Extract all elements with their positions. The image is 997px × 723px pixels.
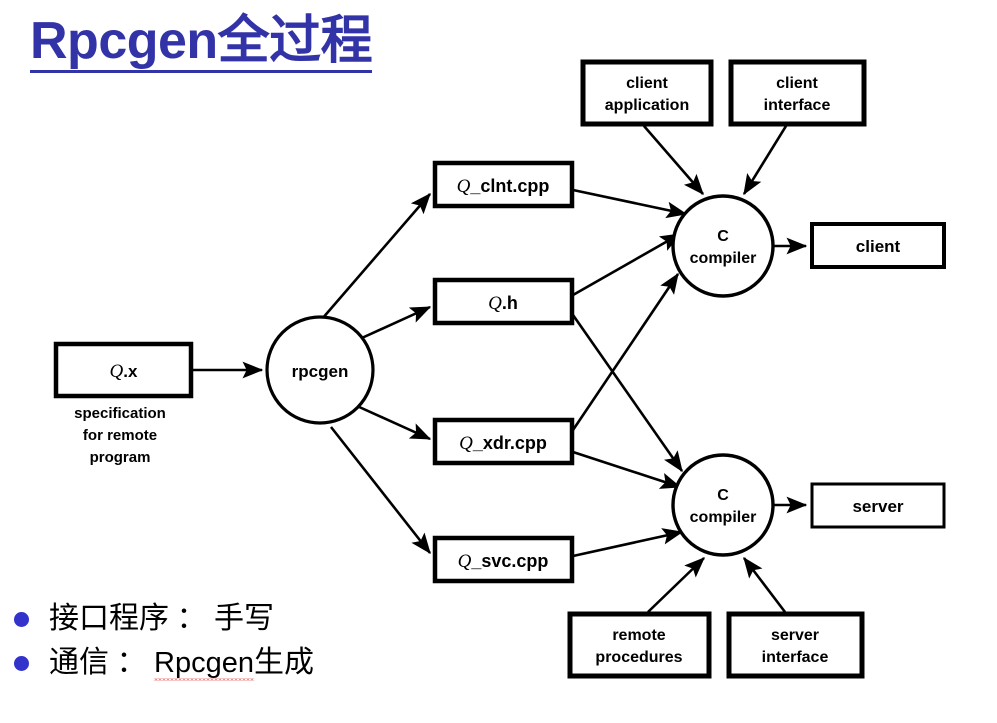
node-client-interface: client interface xyxy=(731,62,864,124)
bullet-text: 通信 ： Rpcgen生成 xyxy=(49,648,314,678)
svg-text:compiler: compiler xyxy=(690,509,757,526)
node-file-clnt: Q_clnt.cpp xyxy=(435,163,572,206)
svg-text:client: client xyxy=(626,75,668,92)
node-rpcgen-circle: rpcgen xyxy=(267,317,373,423)
node-file-svc: Q_svc.cpp xyxy=(435,538,572,581)
node-c-compiler-bottom: C compiler xyxy=(673,455,773,555)
bullet-dot-icon xyxy=(14,656,29,671)
slide-canvas: Rpcgen全过程 xyxy=(0,0,997,723)
node-remote-procedures: remote procedures xyxy=(570,614,709,676)
edge-h-to-cc-bottom xyxy=(573,315,682,471)
edge-rpcgen-to-svc xyxy=(331,427,430,553)
node-c-compiler-top: C compiler xyxy=(673,196,773,296)
edge-rpcgen-to-h xyxy=(353,307,430,342)
node-file-h: Q.h xyxy=(435,280,572,323)
spec-caption: specification for remote program xyxy=(74,405,166,466)
edge-client-app-to-cc-top xyxy=(644,126,703,194)
bullet-prefix: 接口程序 ： 手写 xyxy=(49,602,274,635)
svg-text:client: client xyxy=(776,75,818,92)
edge-rpcgen-to-clnt xyxy=(309,194,430,334)
node-server-interface: server interface xyxy=(729,614,862,676)
node-server-output: server xyxy=(812,484,944,527)
svg-text:remote: remote xyxy=(612,627,665,644)
svg-text:Q_clnt.cpp: Q_clnt.cpp xyxy=(457,176,550,197)
list-item: 接口程序 ： 手写 xyxy=(14,597,444,641)
svg-text:C: C xyxy=(717,228,729,245)
list-item: 通信 ： Rpcgen生成 xyxy=(14,641,444,685)
edge-server-iface-to-cc-bottom xyxy=(744,558,785,612)
node-client-output: client xyxy=(812,224,944,267)
svg-text:server: server xyxy=(771,627,819,644)
bullet-prefix: 通信 ： xyxy=(49,646,154,679)
bullet-dot-icon xyxy=(14,612,29,627)
edge-client-iface-to-cc-top xyxy=(744,126,786,194)
svg-text:interface: interface xyxy=(762,649,829,666)
edge-rpcgen-to-xdr xyxy=(357,406,430,439)
svg-text:procedures: procedures xyxy=(595,649,682,666)
edge-xdr-to-cc-top xyxy=(573,274,678,430)
svg-text:compiler: compiler xyxy=(690,250,757,267)
svg-text:C: C xyxy=(717,487,729,504)
edge-svc-to-cc-bottom xyxy=(573,532,682,556)
svg-text:Q_svc.cpp: Q_svc.cpp xyxy=(458,551,549,572)
svg-text:server: server xyxy=(852,497,903,516)
node-file-xdr: Q_xdr.cpp xyxy=(435,420,572,463)
svg-text:interface: interface xyxy=(764,97,831,114)
svg-text:application: application xyxy=(605,97,689,114)
bullet-list: 接口程序 ： 手写 通信 ： Rpcgen生成 xyxy=(14,597,444,685)
node-client-application: client application xyxy=(583,62,711,124)
bullet-suffix: 生成 xyxy=(254,646,314,679)
svg-text:specification: specification xyxy=(74,405,166,422)
node-spec-box: Q.x xyxy=(56,344,191,396)
svg-text:for remote: for remote xyxy=(83,427,157,444)
bullet-text: 接口程序 ： 手写 xyxy=(49,604,274,634)
bullet-latin-term: Rpcgen xyxy=(154,647,254,681)
svg-text:Q_xdr.cpp: Q_xdr.cpp xyxy=(459,433,547,454)
svg-text:Q.x: Q.x xyxy=(110,361,138,382)
edge-clnt-to-cc-top xyxy=(573,190,686,214)
edge-remote-proc-to-cc-bottom xyxy=(648,558,704,612)
svg-text:client: client xyxy=(856,237,901,256)
svg-text:program: program xyxy=(90,449,151,466)
svg-text:Q.h: Q.h xyxy=(488,293,518,314)
edge-h-to-cc-top xyxy=(573,234,680,295)
svg-text:rpcgen: rpcgen xyxy=(292,362,349,381)
edge-xdr-to-cc-bottom xyxy=(573,452,680,487)
